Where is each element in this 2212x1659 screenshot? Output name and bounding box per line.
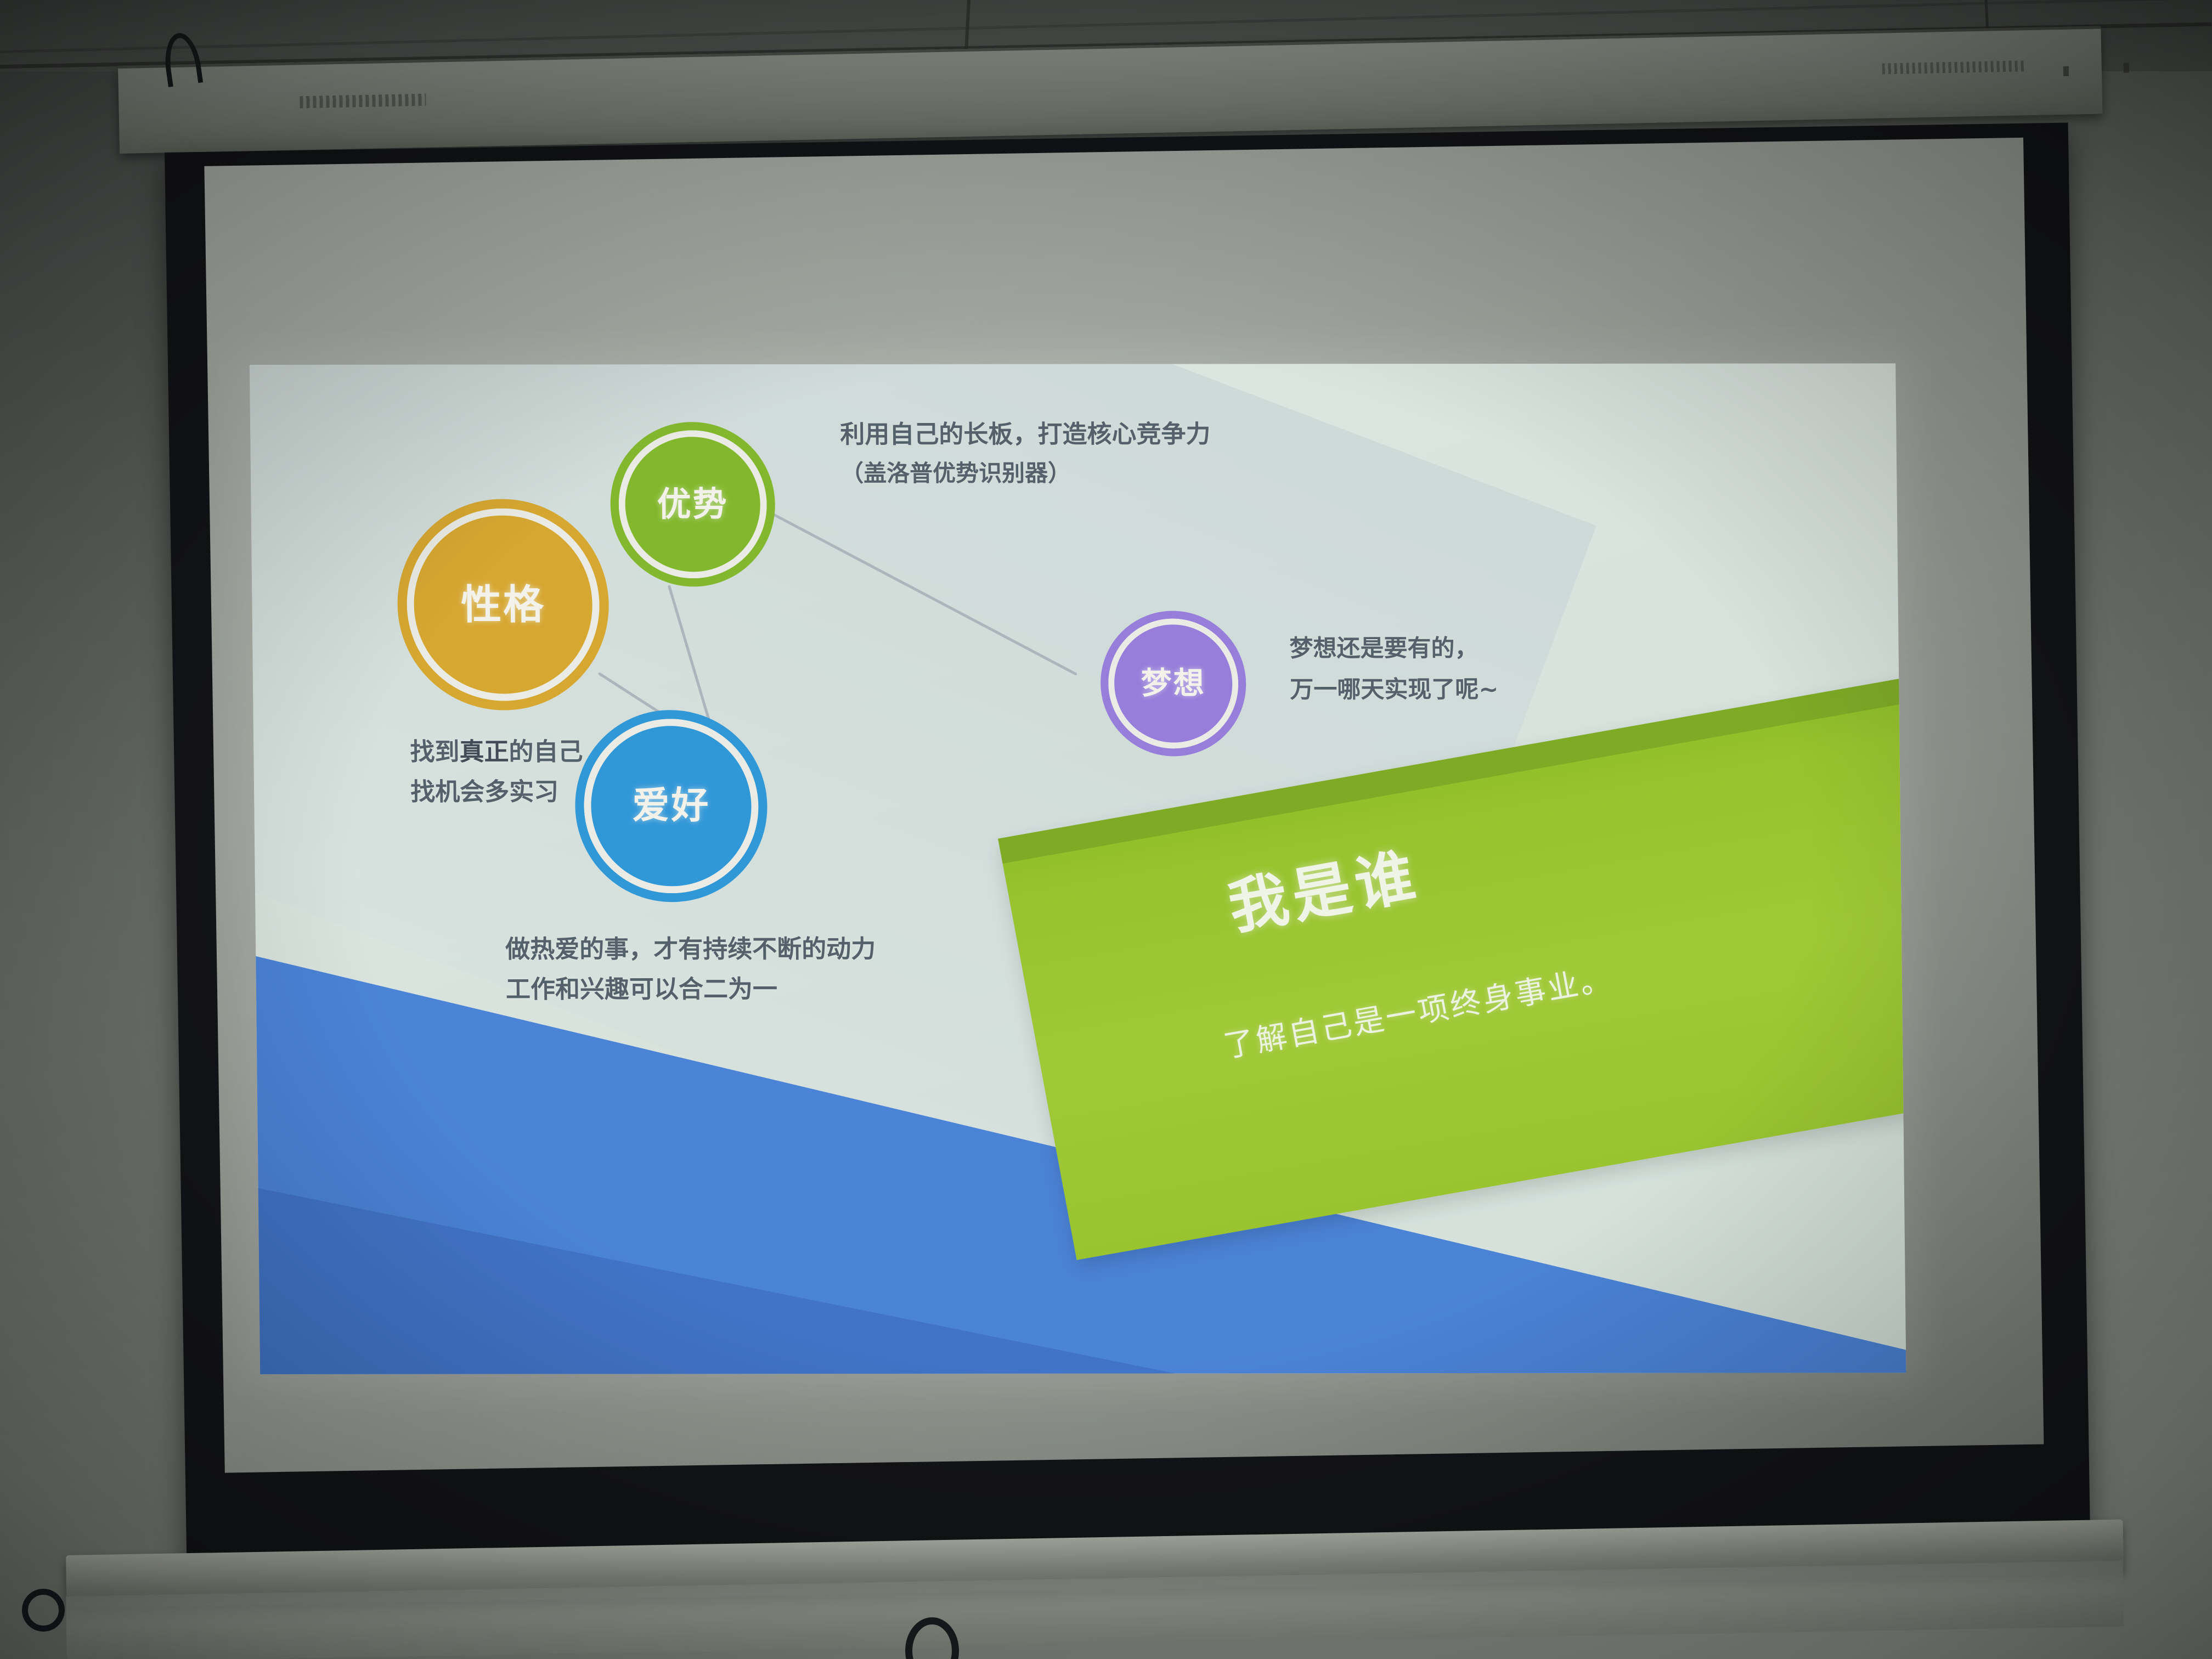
node-aihao-label: 爱好 xyxy=(632,787,710,825)
projected-slide: 性格 优势 爱好 梦想 利用自己的长板，打造核心竞争力 （盖洛普优势识别器） 找… xyxy=(250,363,1906,1374)
slide-title: 我是谁 xyxy=(1221,828,1426,946)
note-xingge-line1-pre: 找到 xyxy=(410,737,460,766)
housing-brand-label xyxy=(300,94,426,109)
note-mengxiang: 梦想还是要有的， 万一哪天实现了呢~ xyxy=(1289,628,1499,711)
node-youshi[interactable]: 优势 xyxy=(610,422,776,586)
classroom-photo: 性格 优势 爱好 梦想 利用自己的长板，打造核心竞争力 （盖洛普优势识别器） 找… xyxy=(0,0,2212,1659)
housing-screw-a xyxy=(2063,66,2069,76)
note-aihao-line2: 工作和兴趣可以合二为一 xyxy=(506,969,877,1009)
node-youshi-label: 优势 xyxy=(657,487,729,521)
note-xingge-line1: 找到真正的自己 xyxy=(410,732,583,772)
node-mengxiang[interactable]: 梦想 xyxy=(1100,611,1247,756)
housing-spec-label xyxy=(1882,60,2025,74)
note-xingge-line1-bold: 真正 xyxy=(459,737,509,766)
note-aihao-line1: 做热爱的事，才有持续不断的动力 xyxy=(505,929,876,969)
note-mengxiang-line2: 万一哪天实现了呢~ xyxy=(1290,669,1499,711)
node-xingge[interactable]: 性格 xyxy=(397,499,610,710)
slide-subtitle: 了解自己是一项终身事业。 xyxy=(1220,953,1616,1066)
note-youshi-line2: （盖洛普优势识别器） xyxy=(840,454,1211,492)
note-xingge-line2: 找机会多实习 xyxy=(410,772,584,812)
node-mengxiang-label: 梦想 xyxy=(1141,668,1206,699)
housing-screw-b xyxy=(2124,63,2129,72)
note-mengxiang-line1: 梦想还是要有的， xyxy=(1289,628,1498,670)
note-xingge: 找到真正的自己 找机会多实习 xyxy=(410,732,584,812)
node-aihao[interactable]: 爱好 xyxy=(574,710,769,902)
note-youshi-line1: 利用自己的长板，打造核心竞争力 xyxy=(840,414,1211,454)
note-xingge-line1-post: 的自己 xyxy=(509,737,583,766)
note-youshi: 利用自己的长板，打造核心竞争力 （盖洛普优势识别器） xyxy=(840,414,1211,492)
weight-bar-end-ring-icon xyxy=(21,1588,65,1632)
node-xingge-label: 性格 xyxy=(461,584,546,625)
note-aihao: 做热爱的事，才有持续不断的动力 工作和兴趣可以合二为一 xyxy=(505,929,877,1009)
